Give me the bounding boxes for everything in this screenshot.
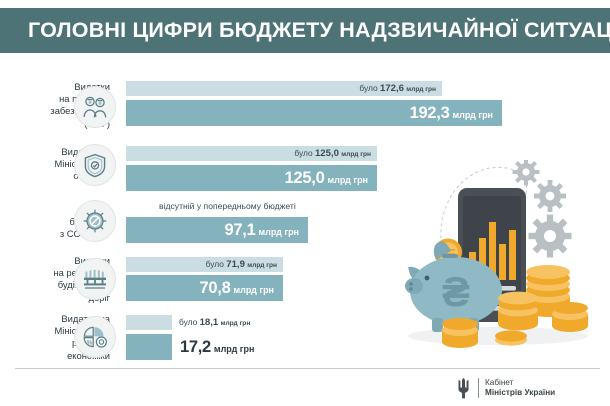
virus-icon [74,200,116,242]
logo-line-2: Міністрів України [485,388,555,398]
bar-current: 70,8 млрд грн [126,275,283,301]
bar-current-label: 70,8 млрд грн [200,279,283,298]
shield-icon [74,144,116,186]
table-row: Видатки на пенсійне забезпечення (ПФУ) [0,70,610,138]
bar-previous-label: було 71,9 млрд грн [206,259,283,270]
ukraine-trident-emblem [455,377,472,399]
bar-current-label: 192,3 млрд грн [410,104,502,123]
bridge-icon [74,258,116,300]
bar-previous-label: було 172,6 млрд грн [359,83,442,94]
footer-logo: Кабінет Міністрів України [455,377,555,399]
bar-current: 125,0 млрд грн [126,165,377,191]
logo-text: Кабінет Міністрів України [485,378,555,399]
infographic-page: ГОЛОВНІ ЦИФРИ БЮДЖЕТУ НАДЗВИЧАЙНОЇ СИТУА… [0,0,610,406]
logo-separator [478,378,479,398]
piggy-bank-phone-coins-illustration: ₴ [398,160,610,365]
bar-current: 17,2 млрд грн [126,334,172,360]
footer-divider [15,368,600,369]
page-title: ГОЛОВНІ ЦИФРИ БЮДЖЕТУ НАДЗВИЧАЙНОЇ СИТУА… [0,18,610,43]
bar-current-label: 125,0 млрд грн [285,169,377,188]
svg-text:%: % [87,339,93,346]
pensioners-icon [74,86,116,128]
bar-current: 192,3 млрд грн [126,100,502,126]
currency-symbol: ₴ [442,268,470,315]
bar-previous-label: було 18,1 млрд грн [172,317,250,328]
logo-line-1: Кабінет [485,378,555,388]
bar-previous: було 125,0 млрд грн [126,146,377,161]
bar-current: 97,1 млрд грн [126,217,308,243]
bar-previous: було 172,6 млрд грн [126,81,442,96]
bar-previous: було 18,1 млрд грн [126,315,172,330]
bar-previous: було 71,9 млрд грн [126,257,283,272]
bar-current-label: 17,2 млрд грн [172,338,254,357]
bar-previous-label: було 125,0 млрд грн [294,148,377,159]
economy-chart-icon: % [74,316,116,358]
bar-note-label: відсутній у попередньому бюджеті [159,201,296,211]
bar-current-label: 97,1 млрд грн [225,221,308,240]
header-band: ГОЛОВНІ ЦИФРИ БЮДЖЕТУ НАДЗВИЧАЙНОЇ СИТУА… [0,8,610,53]
